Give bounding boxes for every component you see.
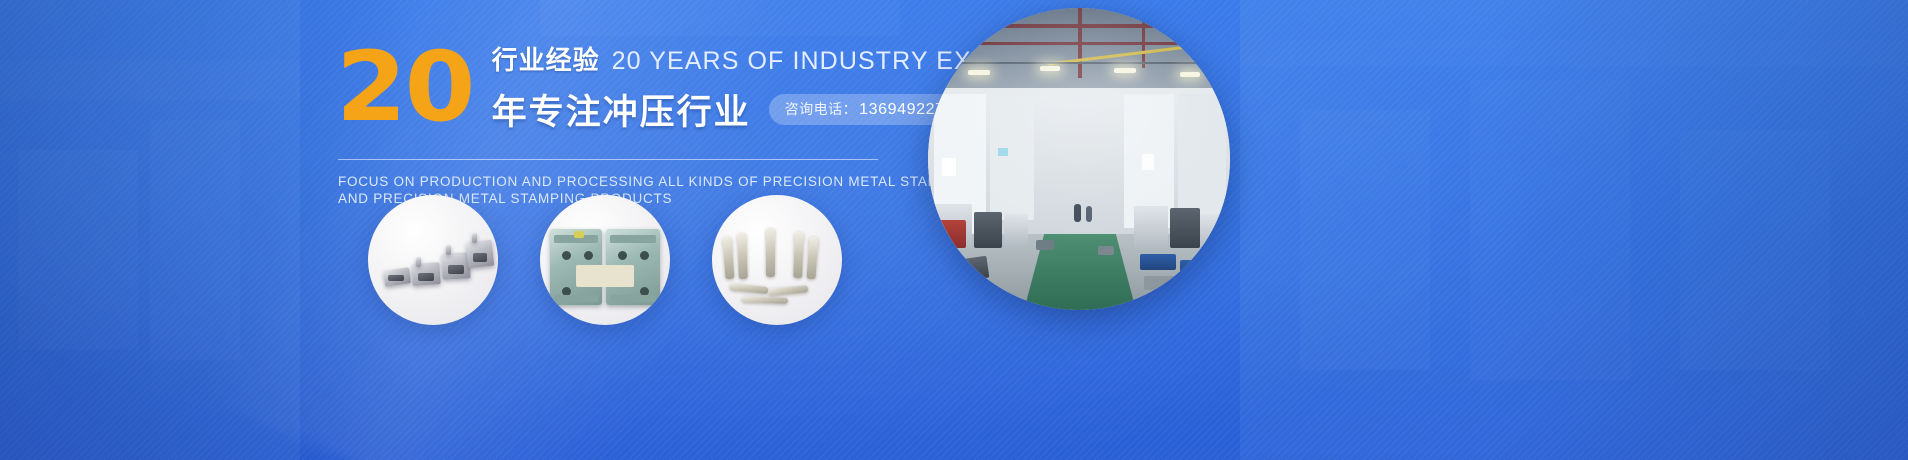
promo-banner: 20 行业经验 20 YEARS OF INDUSTRY EXPERIENCE …: [0, 0, 1908, 460]
years-number: 20: [336, 46, 473, 128]
product-circle-mold[interactable]: [540, 195, 670, 325]
divider-line: [338, 159, 878, 160]
subtext-line-1: FOCUS ON PRODUCTION AND PROCESSING ALL K…: [338, 173, 896, 190]
phone-label: 咨询电话：: [785, 99, 858, 119]
cn-subtitle: 行业经验: [492, 40, 600, 77]
headline-block: 20 行业经验 20 YEARS OF INDUSTRY EXPERIENCE …: [336, 36, 896, 207]
cn-headline: 年专注冲压行业: [492, 84, 751, 135]
product-circle-terminals[interactable]: [712, 195, 842, 325]
product-circle-connectors[interactable]: [368, 195, 498, 325]
headline-row: 20 行业经验 20 YEARS OF INDUSTRY EXPERIENCE …: [336, 36, 896, 135]
factory-photo-circle[interactable]: [928, 8, 1230, 310]
